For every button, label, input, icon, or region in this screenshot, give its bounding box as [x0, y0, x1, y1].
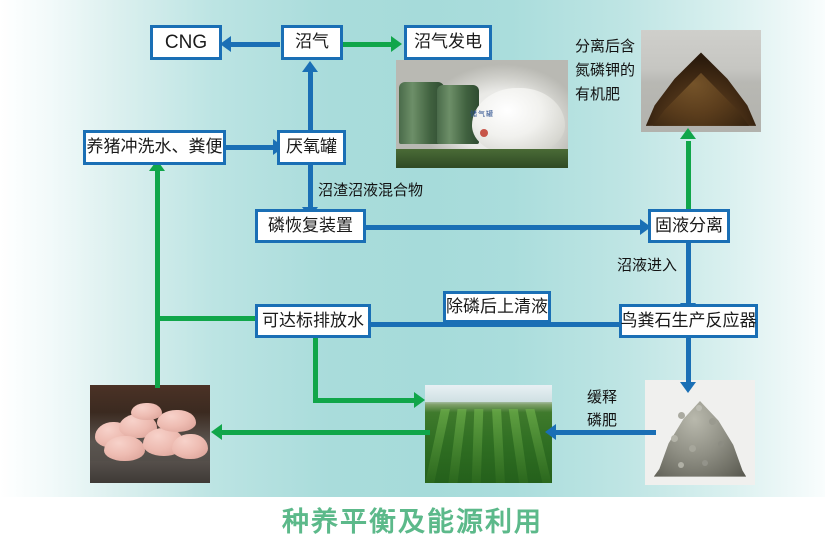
- granular-fertilizer-photo: [645, 380, 755, 485]
- edge-separation-to-fertilizer: [686, 141, 691, 211]
- edge-water-to-riser: [157, 316, 257, 321]
- arrowhead-anaerobic-to-biogas: [302, 61, 318, 72]
- node-solid-liquid-separation[interactable]: 固液分离: [648, 209, 730, 243]
- arrowhead-water-to-field: [414, 392, 425, 408]
- arrowhead-reactor-to-granular: [680, 382, 696, 393]
- node-cng[interactable]: CNG: [150, 25, 222, 60]
- biogas-dome-photo: 储气罐: [396, 60, 568, 168]
- edge-field-to-pigs: [222, 430, 430, 435]
- caption-slow-release-phosphate: 缓释磷肥: [587, 386, 627, 432]
- edge-manure-to-anaerobic: [224, 145, 278, 150]
- dome-label: 储气罐: [470, 109, 494, 119]
- node-biogas-power[interactable]: 沼气发电: [404, 25, 492, 60]
- crop-field-photo: [425, 385, 552, 483]
- node-wash-water-manure[interactable]: 养猪冲洗水、粪便: [83, 130, 226, 165]
- node-dischargeable-water[interactable]: 可达标排放水: [255, 304, 371, 338]
- edge-water-to-field: [313, 398, 415, 403]
- edge-riser-pigs-stub: [155, 352, 160, 388]
- edge-anaerobic-to-precovery: [308, 164, 313, 209]
- edge-separation-to-reactor: [686, 243, 691, 305]
- caption-digestate-liquid-in: 沼液进入: [617, 256, 677, 275]
- arrowhead-separation-to-fertilizer: [680, 128, 696, 139]
- pigs-photo: [90, 385, 210, 483]
- edge-reactor-to-granular: [686, 338, 691, 386]
- node-struvite-reactor[interactable]: 鸟粪石生产反应器: [619, 304, 758, 338]
- edge-water-down: [313, 338, 318, 402]
- caption-organic-fertilizer: 分离后含氮磷钾的有机肥: [575, 34, 637, 106]
- label-supernatant[interactable]: 除磷后上清液: [443, 291, 551, 323]
- arrowhead-field-to-pigs: [211, 424, 222, 440]
- edge-biogas-to-cng: [231, 42, 280, 47]
- node-phosphorus-recovery[interactable]: 磷恢复装置: [255, 209, 366, 243]
- edge-anaerobic-to-biogas: [308, 72, 313, 132]
- diagram-title: 种养平衡及能源利用: [0, 500, 825, 539]
- arrowhead-granular-to-field: [545, 424, 556, 440]
- flowchart-canvas: 储气罐: [0, 0, 825, 554]
- caption-digestate-mixture: 沼渣沼液混合物: [318, 181, 423, 200]
- node-anaerobic-tank[interactable]: 厌氧罐: [277, 130, 346, 165]
- arrowhead-biogas-to-power: [391, 36, 402, 52]
- organic-fertilizer-photo: [641, 30, 761, 132]
- node-biogas[interactable]: 沼气: [281, 25, 343, 60]
- edge-precovery-to-separation: [366, 225, 642, 230]
- edge-biogas-to-power: [343, 42, 391, 47]
